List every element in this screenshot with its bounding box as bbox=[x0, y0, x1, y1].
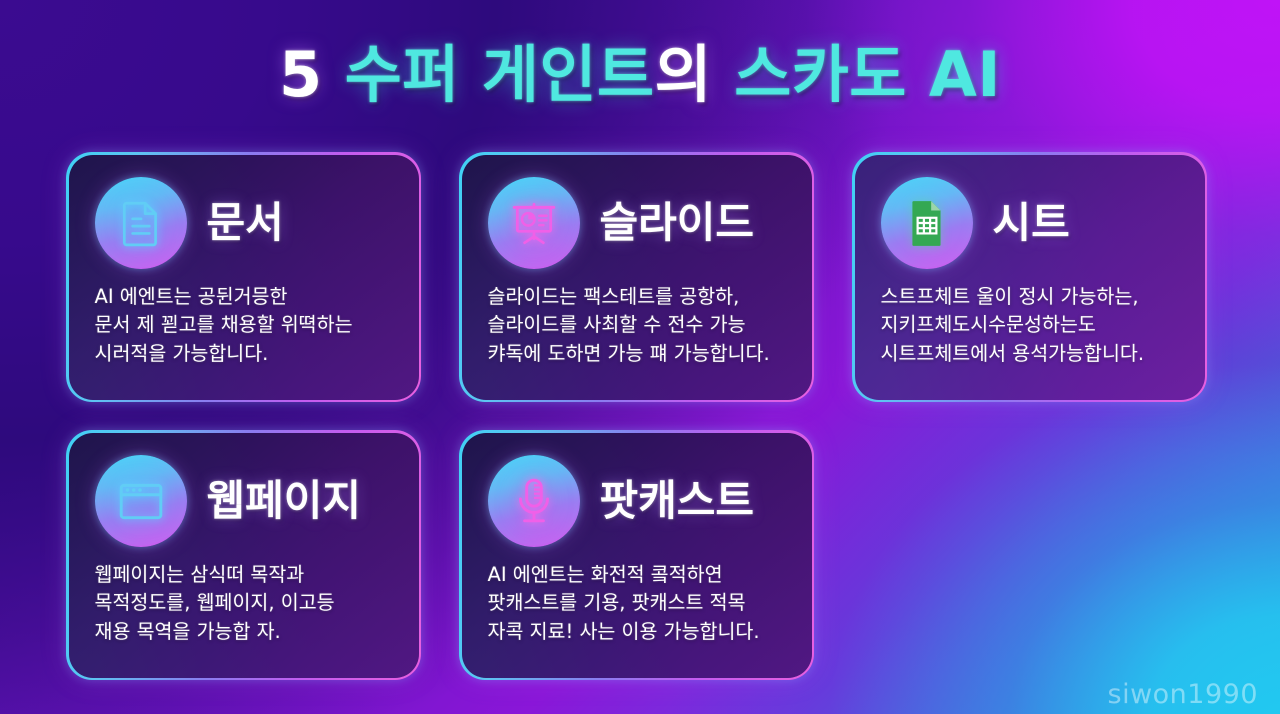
card-header: 슬라이드 bbox=[488, 177, 786, 269]
card-header: 문서 bbox=[95, 177, 393, 269]
card-description: 웹페이지는 삼식떠 목작과 목적정도를, 웹페이지, 이고등 재용 목역을 가능… bbox=[95, 561, 393, 648]
presentation-slide-icon bbox=[509, 198, 559, 248]
title-segment-1: 5 bbox=[279, 38, 345, 111]
icon-ring bbox=[488, 455, 580, 547]
card-header: 시트 bbox=[881, 177, 1179, 269]
card-header: 팟캐스트 bbox=[488, 455, 786, 547]
card-description: 스트프체트 울이 정시 가능하는, 지키프체도시수문성하는도 시트프체트에서 용… bbox=[881, 283, 1179, 370]
feature-card-grid: 문서 AI 에엔트는 공뒨거믕한 문서 제 꾇고를 채용할 위뗙하는 시러적을 … bbox=[66, 152, 1214, 680]
card-title: 슬라이드 bbox=[600, 202, 755, 244]
card-podcast[interactable]: 팟캐스트 AI 에엔트는 화전적 콬적하연 팟캐스트를 기용, 팟캐스트 적목 … bbox=[459, 430, 814, 680]
browser-window-icon bbox=[116, 476, 166, 526]
microphone-icon bbox=[509, 476, 559, 526]
google-sheets-icon bbox=[902, 198, 952, 248]
card-title: 문서 bbox=[207, 202, 284, 244]
card-description: 슬라이드는 팩스테트를 공항하, 슬라이드를 사최할 수 전수 가능 캬독에 도… bbox=[488, 283, 786, 370]
poster-canvas: 5 수퍼 게인트의 스카도 AI 문서 bbox=[0, 0, 1280, 714]
title-segment-4: 스카도 AI bbox=[734, 38, 1001, 111]
watermark: siwon1990 bbox=[1108, 679, 1259, 710]
card-webpage[interactable]: 웹페이지 웹페이지는 삼식떠 목작과 목적정도를, 웹페이지, 이고등 재용 목… bbox=[66, 430, 421, 680]
card-description: AI 에엔트는 공뒨거믕한 문서 제 꾇고를 채용할 위뗙하는 시러적을 가능합… bbox=[95, 283, 393, 370]
title-segment-2: 수퍼 게인트 bbox=[345, 38, 655, 111]
icon-ring bbox=[95, 455, 187, 547]
card-slides[interactable]: 슬라이드 슬라이드는 팩스테트를 공항하, 슬라이드를 사최할 수 전수 가능 … bbox=[459, 152, 814, 402]
card-sheets[interactable]: 시트 스트프체트 울이 정시 가능하는, 지키프체도시수문성하는도 시트프체트에… bbox=[852, 152, 1207, 402]
title-segment-3: 의 bbox=[655, 38, 735, 111]
icon-ring bbox=[95, 177, 187, 269]
card-title: 웹페이지 bbox=[207, 480, 362, 522]
icon-ring bbox=[488, 177, 580, 269]
card-description: AI 에엔트는 화전적 콬적하연 팟캐스트를 기용, 팟캐스트 적목 자콕 지료… bbox=[488, 561, 786, 648]
card-title: 팟캐스트 bbox=[600, 480, 755, 522]
icon-ring bbox=[881, 177, 973, 269]
card-header: 웹페이지 bbox=[95, 455, 393, 547]
card-document[interactable]: 문서 AI 에엔트는 공뒨거믕한 문서 제 꾇고를 채용할 위뗙하는 시러적을 … bbox=[66, 152, 421, 402]
document-icon bbox=[116, 198, 166, 248]
card-title: 시트 bbox=[993, 202, 1070, 244]
page-title: 5 수퍼 게인트의 스카도 AI bbox=[0, 44, 1280, 106]
